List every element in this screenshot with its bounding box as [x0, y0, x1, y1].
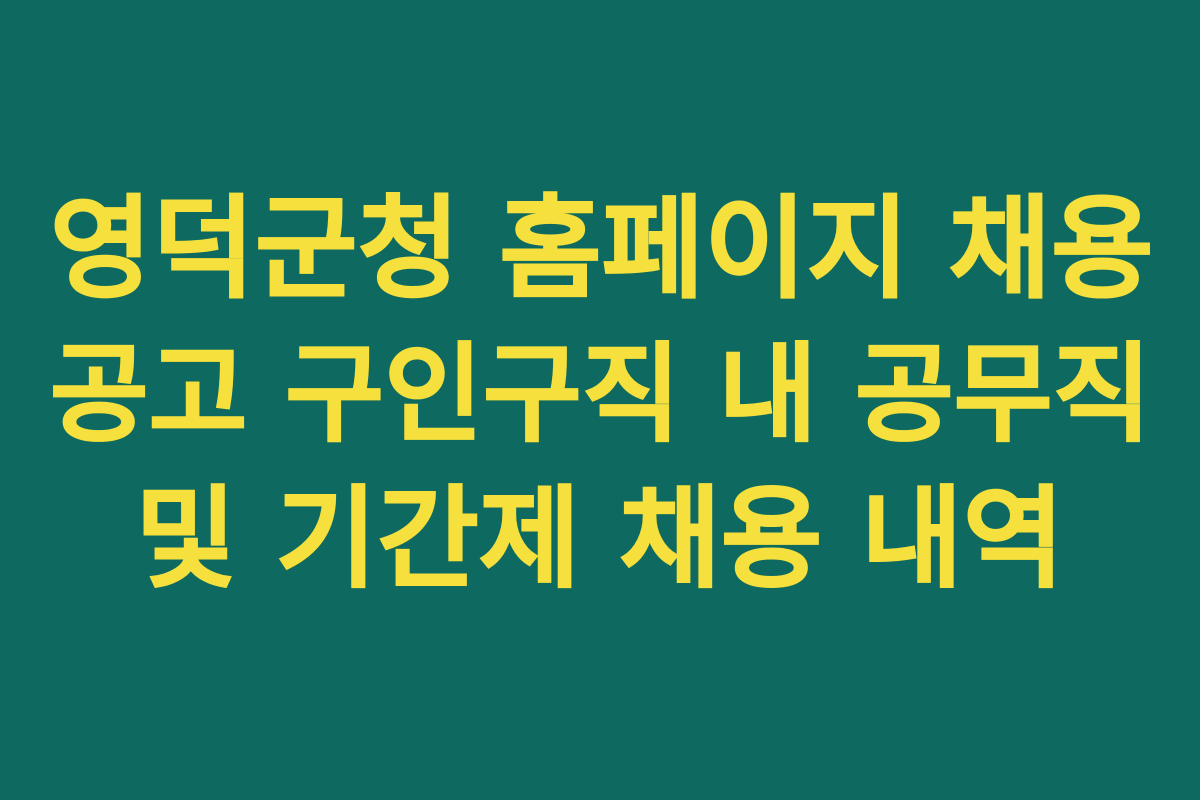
headline-line-3: 및 기간제 채용 내역 — [50, 466, 1150, 612]
headline-line-2: 공고 구인구직 내 공무직 — [50, 324, 1150, 466]
headline-block: 영덕군청 홈페이지 채용 공고 구인구직 내 공무직 및 기간제 채용 내역 — [50, 176, 1150, 612]
banner-card: 영덕군청 홈페이지 채용 공고 구인구직 내 공무직 및 기간제 채용 내역 — [0, 0, 1200, 800]
headline-line-1: 영덕군청 홈페이지 채용 — [50, 176, 1150, 324]
